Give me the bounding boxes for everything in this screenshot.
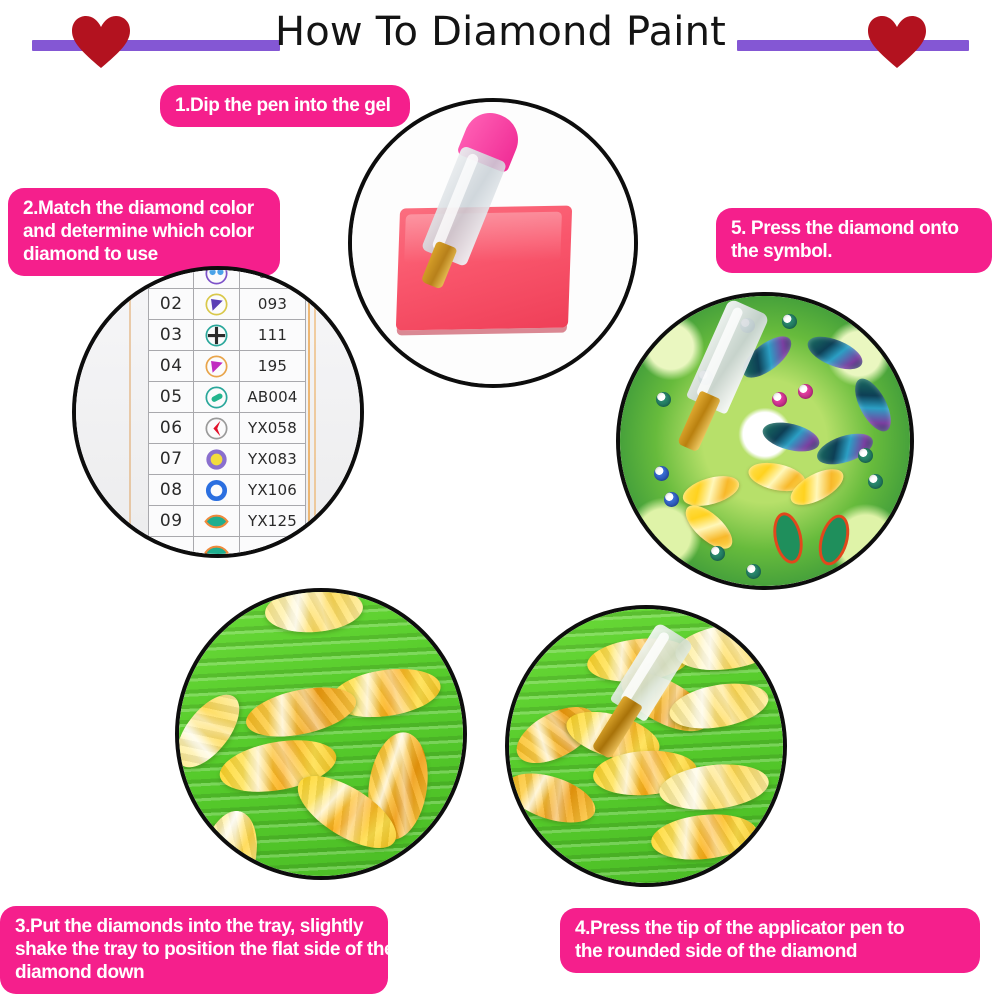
table-row: 02093 [149,289,306,320]
table-row [149,537,306,555]
chart-row-number: 04 [149,351,194,382]
table-row: 04195 [149,351,306,382]
chart-row-code: YX106 [240,475,306,506]
table-row: 028 [149,270,306,289]
double-dot-circle-icon [194,270,240,289]
chart-row-code: YX125 [240,506,306,537]
table-row: 06YX058 [149,413,306,444]
step-2-line-1: 2.Match the diamond color [23,197,265,220]
slanted-capsule-icon [194,382,240,413]
step-5-photo-press-onto-symbol [616,292,914,590]
step-3-line-1: 3.Put the diamonds into the tray, slight… [15,915,373,938]
table-row: 09YX125 [149,506,306,537]
triangle-down-left-icon [194,351,240,382]
plus-cross-icon [194,320,240,351]
mandala-canvas-illustration [620,296,910,586]
step-4-line-2: the rounded side of the diamond [575,940,965,963]
table-row: 07YX083 [149,444,306,475]
step-5-line-1: 5. Press the diamond onto [731,217,977,240]
page-header: How To Diamond Paint [0,0,1001,78]
table-row: 03111 [149,320,306,351]
chart-edge-lines [308,270,317,554]
table-row: 05AB004 [149,382,306,413]
step-1-photo-pen-in-gel [348,98,638,388]
pen-tip-gold [677,390,721,452]
page-title: How To Diamond Paint [0,9,1001,55]
step-2-label: 2.Match the diamond color and determine … [8,188,280,276]
chart-row-code: AB004 [240,382,306,413]
diamond-color-code-table: 02802093031110419505AB00406YX05807YX0830… [148,270,306,554]
step-3-line-3: diamond down [15,961,373,984]
chart-row-code: 195 [240,351,306,382]
step-3-label: 3.Put the diamonds into the tray, slight… [0,906,388,994]
step-5-label: 5. Press the diamond onto the symbol. [716,208,992,273]
symbol-dot [654,466,669,481]
leaf-marquise-icon [194,506,240,537]
step-5-line-2: the symbol. [731,240,977,263]
filled-donut-icon [194,444,240,475]
step-2-photo-color-chart: 02802093031110419505AB00406YX05807YX0830… [72,266,364,558]
symbol-dot [710,546,725,561]
open-ring-icon [194,475,240,506]
pen-dipping-illustration [352,102,634,384]
step-3-line-2: shake the tray to position the flat side… [15,938,373,961]
chart-row-code: 111 [240,320,306,351]
symbol-dot [772,392,787,407]
symbol-dot [798,384,813,399]
pen-tip-gold [591,695,643,759]
triangle-down-left-icon [194,289,240,320]
symbol-dot [868,474,883,489]
step-3-photo-diamonds-in-tray [175,588,467,880]
chart-row-code [240,537,306,555]
symbol-dot [746,564,761,579]
step-2-line-3: diamond to use [23,243,265,266]
symbol-dot [664,492,679,507]
chart-row-number [149,270,194,289]
chart-margin-line [129,270,131,554]
chart-row-number: 07 [149,444,194,475]
chart-row-code: 028 [240,270,306,289]
step-4-photo-pen-picking-diamond [505,605,787,887]
color-chart-paper: 02802093031110419505AB00406YX05807YX0830… [76,270,360,554]
chart-row-code: YX058 [240,413,306,444]
leaf-marquise-icon [194,537,240,555]
chart-row-code: YX083 [240,444,306,475]
chart-row-number: 08 [149,475,194,506]
chart-row-number: 02 [149,289,194,320]
chart-row-code: 093 [240,289,306,320]
left-chevron-icon [194,413,240,444]
chart-row-number: 06 [149,413,194,444]
step-2-line-2: and determine which color [23,220,265,243]
step-4-line-1: 4.Press the tip of the applicator pen to [575,917,965,940]
chart-row-number: 05 [149,382,194,413]
step-4-label: 4.Press the tip of the applicator pen to… [560,908,980,973]
table-row: 08YX106 [149,475,306,506]
chart-row-number [149,537,194,555]
chart-row-number: 09 [149,506,194,537]
symbol-dot [858,448,873,463]
chart-row-number: 03 [149,320,194,351]
